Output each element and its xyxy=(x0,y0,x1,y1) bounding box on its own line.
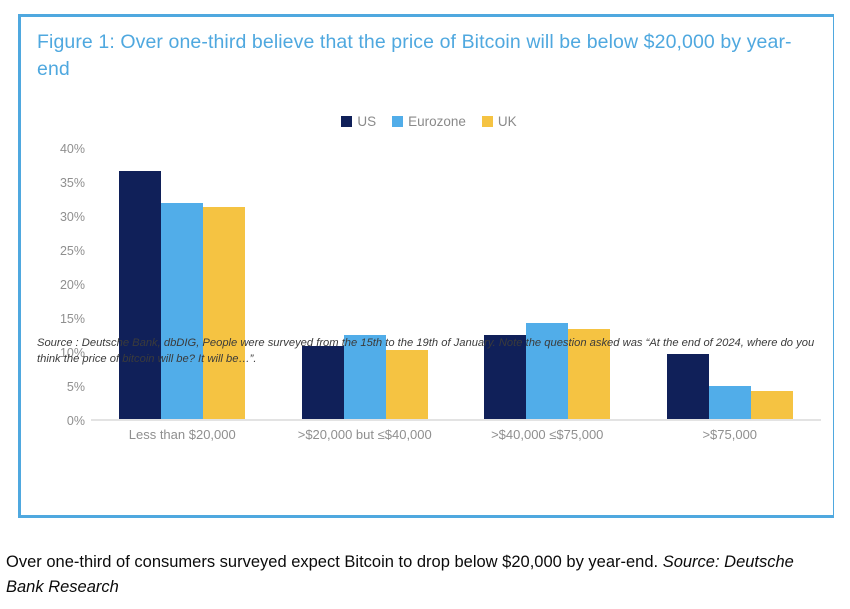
legend-swatch-icon xyxy=(392,116,403,127)
bar-eurozone[interactable] xyxy=(161,203,203,419)
bar-eurozone[interactable] xyxy=(709,386,751,419)
caption-text: Over one-third of consumers surveyed exp… xyxy=(6,553,663,571)
y-axis-tick-label: 30% xyxy=(60,210,85,224)
legend-label: US xyxy=(357,115,376,129)
legend-item-us[interactable]: US xyxy=(341,115,376,129)
legend-label: Eurozone xyxy=(408,115,466,129)
y-axis-tick-label: 0% xyxy=(67,414,85,428)
bar-groups xyxy=(91,149,821,419)
y-axis-tick-label: 20% xyxy=(60,278,85,292)
bar-us[interactable] xyxy=(119,171,161,419)
y-axis-tick-label: 25% xyxy=(60,244,85,258)
legend-item-eurozone[interactable]: Eurozone xyxy=(392,115,466,129)
x-axis-category-label: >$20,000 but ≤$40,000 xyxy=(274,427,457,442)
bar-uk[interactable] xyxy=(203,207,245,419)
bar-uk[interactable] xyxy=(751,391,793,419)
bar-group xyxy=(639,149,822,419)
figure-caption: Over one-third of consumers surveyed exp… xyxy=(6,550,806,600)
chart-legend: USEurozoneUK xyxy=(21,115,837,129)
figure-title: Figure 1: Over one-third believe that th… xyxy=(37,29,807,83)
y-axis-tick-label: 15% xyxy=(60,312,85,326)
legend-label: UK xyxy=(498,115,517,129)
y-axis-tick-label: 5% xyxy=(67,380,85,394)
legend-item-uk[interactable]: UK xyxy=(482,115,517,129)
source-note: Source : Deutsche Bank, dbDIG, People we… xyxy=(37,335,819,367)
chart-plot: 40%35%30%25%20%15%10%5%0% Less than $20,… xyxy=(37,149,821,439)
y-axis: 40%35%30%25%20%15%10%5%0% xyxy=(37,149,85,421)
x-axis-category-label: >$75,000 xyxy=(639,427,822,442)
legend-swatch-icon xyxy=(482,116,493,127)
bar-group xyxy=(274,149,457,419)
x-axis-labels: Less than $20,000>$20,000 but ≤$40,000>$… xyxy=(91,427,821,442)
plot-area xyxy=(91,149,821,421)
figure-frame: Figure 1: Over one-third believe that th… xyxy=(18,14,834,518)
x-axis-category-label: Less than $20,000 xyxy=(91,427,274,442)
y-axis-tick-label: 35% xyxy=(60,176,85,190)
bar-group xyxy=(91,149,274,419)
bar-group xyxy=(456,149,639,419)
legend-swatch-icon xyxy=(341,116,352,127)
figure-page: Figure 1: Over one-third believe that th… xyxy=(0,0,850,609)
y-axis-tick-label: 40% xyxy=(60,142,85,156)
x-axis-category-label: >$40,000 ≤$75,000 xyxy=(456,427,639,442)
